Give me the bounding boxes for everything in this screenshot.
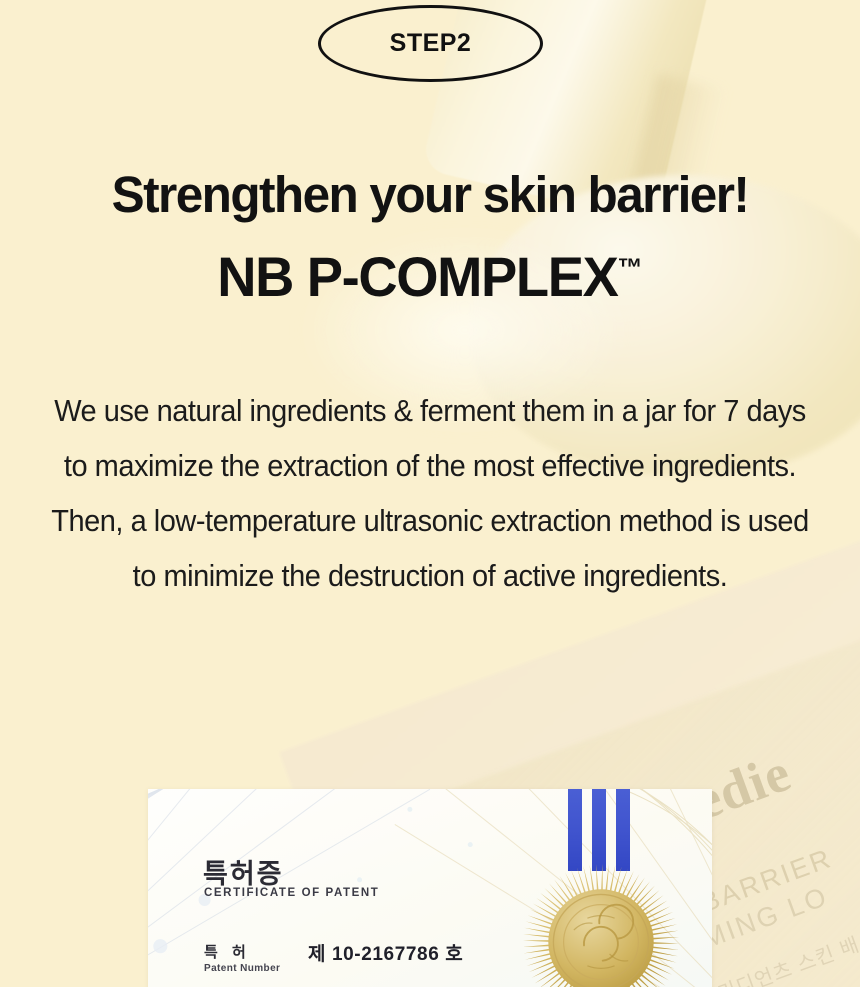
product-name-title: NB P-COMPLEX™ — [13, 248, 847, 307]
description-paragraph: We use natural ingredients & ferment the… — [41, 384, 820, 604]
certificate-title-korean: 특허증 — [203, 852, 284, 891]
step-badge: STEP2 — [318, 5, 543, 82]
patent-certificate-image: 특허증 CERTIFICATE OF PATENT 특 허 Patent Num… — [148, 789, 712, 987]
step-badge-label: STEP2 — [390, 29, 472, 58]
patent-number-label-english: Patent Number — [204, 963, 280, 974]
product-name-text: NB P-COMPLEX — [217, 245, 617, 308]
patent-number-value: 제 10-2167786 호 — [308, 939, 463, 966]
trademark-symbol: ™ — [617, 252, 642, 282]
certificate-title-english: CERTIFICATE OF PATENT — [204, 887, 379, 899]
background-word-korean: 그리디언츠 스킨 배 — [695, 928, 860, 987]
patent-number-label-korean: 특 허 — [204, 941, 251, 962]
gold-seal-icon — [516, 857, 686, 987]
page-title: Strengthen your skin barrier! — [13, 168, 847, 222]
promo-page: ingredie N BARRIER ALMING LO 그리디언츠 스킨 배 … — [0, 0, 860, 987]
